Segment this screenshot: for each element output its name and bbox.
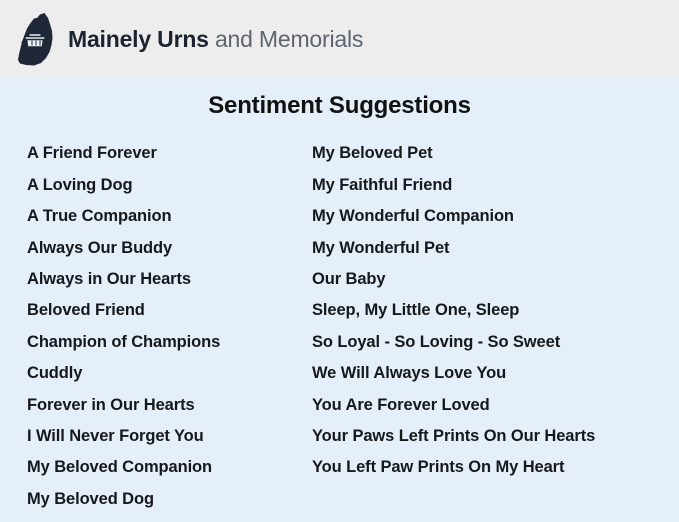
brand-name-primary: Mainely Urns <box>68 26 209 52</box>
list-item: My Beloved Pet <box>312 138 595 169</box>
list-item: My Faithful Friend <box>312 170 595 201</box>
list-item: I Will Never Forget You <box>27 421 312 452</box>
list-item: Cuddly <box>27 358 312 389</box>
list-item: Our Baby <box>312 264 595 295</box>
site-header: Mainely Urns and Memorials <box>0 0 679 78</box>
list-item: Always in Our Hearts <box>27 264 312 295</box>
list-item: A True Companion <box>27 201 312 232</box>
list-item: You Left Paw Prints On My Heart <box>312 452 595 483</box>
list-item: A Friend Forever <box>27 138 312 169</box>
list-item: Beloved Friend <box>27 295 312 326</box>
list-item: Always Our Buddy <box>27 233 312 264</box>
list-item: Your Paws Left Prints On Our Hearts <box>312 421 595 452</box>
list-item: My Wonderful Companion <box>312 201 595 232</box>
list-item: Forever in Our Hearts <box>27 390 312 421</box>
list-item: You Are Forever Loved <box>312 390 595 421</box>
list-item: Sleep, My Little One, Sleep <box>312 295 595 326</box>
brand-wordmark: Mainely Urns and Memorials <box>68 28 363 51</box>
sentiment-column-left: A Friend Forever A Loving Dog A True Com… <box>0 138 312 515</box>
sentiment-column-right: My Beloved Pet My Faithful Friend My Won… <box>312 138 595 515</box>
list-item: My Beloved Companion <box>27 452 312 483</box>
list-item: My Wonderful Pet <box>312 233 595 264</box>
sentiment-columns: A Friend Forever A Loving Dog A True Com… <box>0 119 679 515</box>
maine-state-urn-logo <box>14 11 58 67</box>
list-item: Champion of Champions <box>27 327 312 358</box>
list-item: So Loyal - So Loving - So Sweet <box>312 327 595 358</box>
brand-name-secondary: and Memorials <box>209 26 363 52</box>
content-sheet: Sentiment Suggestions A Friend Forever A… <box>0 78 679 522</box>
list-item: We Will Always Love You <box>312 358 595 389</box>
page-title: Sentiment Suggestions <box>0 78 679 119</box>
list-item: My Beloved Dog <box>27 484 312 515</box>
list-item: A Loving Dog <box>27 170 312 201</box>
